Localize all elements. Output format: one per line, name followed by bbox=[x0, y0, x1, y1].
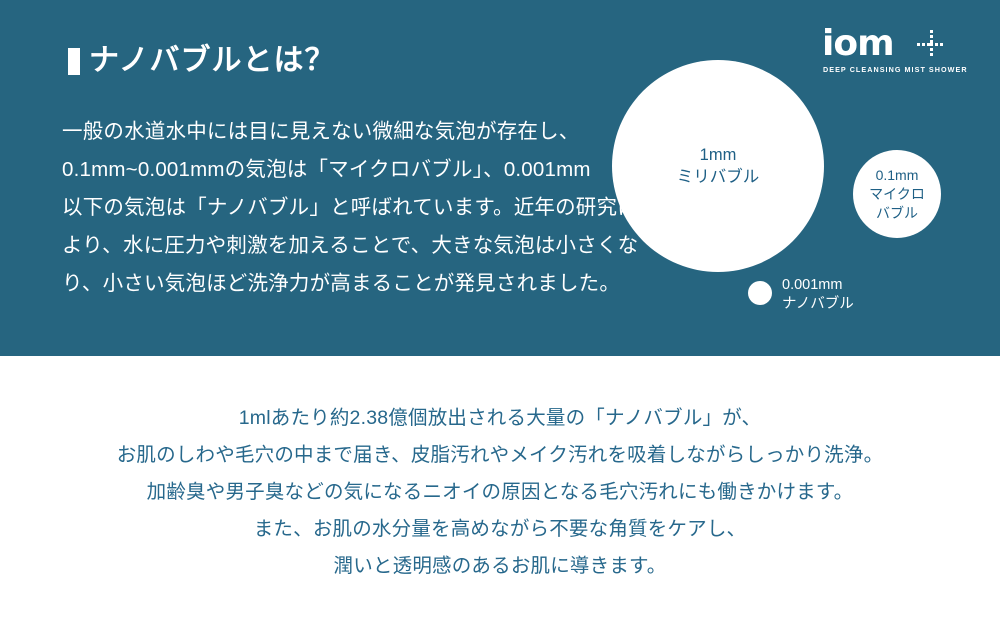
bubble-milli: 1mm ミリバブル bbox=[612, 60, 824, 272]
hero-paragraph: 一般の水道水中には目に見えない微細な気泡が存在し、 0.1mm~0.001mmの… bbox=[62, 113, 610, 303]
summary-line: 加齢臭や男子臭などの気になるニオイの原因となる毛穴汚れにも働きかけます。 bbox=[147, 474, 854, 511]
infographic-page: iom DEEP CLEANSING MIST SHOWER ナノバブルとは？ bbox=[0, 0, 1000, 621]
bubble-milli-size: 1mm bbox=[700, 144, 737, 166]
page-title: ナノバブルとは？ bbox=[68, 42, 336, 80]
summary-line: また、お肌の水分量を高めながら不要な角質をケアし、 bbox=[254, 511, 747, 548]
summary-line: お肌のしわや毛穴の中まで届き、皮脂汚れやメイク汚れを吸着しながらしっかり洗浄。 bbox=[117, 437, 884, 474]
page-title-text: ナノバブルとは？ bbox=[89, 42, 336, 80]
hero-paragraph-line: り、小さい気泡ほど洗浄力が高まることが発見されました。 bbox=[62, 265, 610, 303]
bubble-micro-name-line2: バブル bbox=[876, 204, 918, 223]
plus-dots-icon bbox=[917, 30, 947, 60]
bubble-nano-size: 0.001mm bbox=[782, 276, 854, 295]
brand-logo: iom DEEP CLEANSING MIST SHOWER bbox=[822, 26, 972, 76]
bubble-milli-name: ミリバブル bbox=[677, 166, 760, 188]
bubble-micro: 0.1mm マイクロ バブル bbox=[853, 150, 941, 238]
hero-paragraph-line: より、水に圧力や刺激を加えることで、大きな気泡は小さくな bbox=[62, 227, 610, 265]
hero-paragraph-line: 一般の水道水中には目に見えない微細な気泡が存在し、 bbox=[62, 113, 610, 151]
logo-tagline: DEEP CLEANSING MIST SHOWER bbox=[823, 65, 968, 74]
bubble-micro-name-line1: マイクロ bbox=[869, 185, 925, 204]
bubble-nano-label: 0.001mm ナノバブル bbox=[782, 276, 854, 314]
logo-wordmark: iom bbox=[822, 26, 894, 62]
hero-paragraph-line: 0.1mm~0.001mmの気泡は「マイクロバブル」、0.001mm bbox=[62, 151, 610, 189]
bubble-nano-name: ナノバブル bbox=[782, 295, 854, 314]
bubble-micro-size: 0.1mm bbox=[876, 166, 919, 185]
hero-panel: iom DEEP CLEANSING MIST SHOWER ナノバブルとは？ bbox=[0, 0, 1000, 356]
title-accent-bar bbox=[68, 48, 80, 75]
summary-panel: 1mlあたり約2.38億個放出される大量の「ナノバブル」が、 お肌のしわや毛穴の… bbox=[0, 356, 1000, 621]
summary-line: 1mlあたり約2.38億個放出される大量の「ナノバブル」が、 bbox=[239, 400, 762, 437]
summary-line: 潤いと透明感のあるお肌に導きます。 bbox=[334, 548, 667, 585]
bubble-nano bbox=[748, 281, 772, 305]
hero-paragraph-line: 以下の気泡は「ナノバブル」と呼ばれています。近年の研究に bbox=[62, 189, 610, 227]
